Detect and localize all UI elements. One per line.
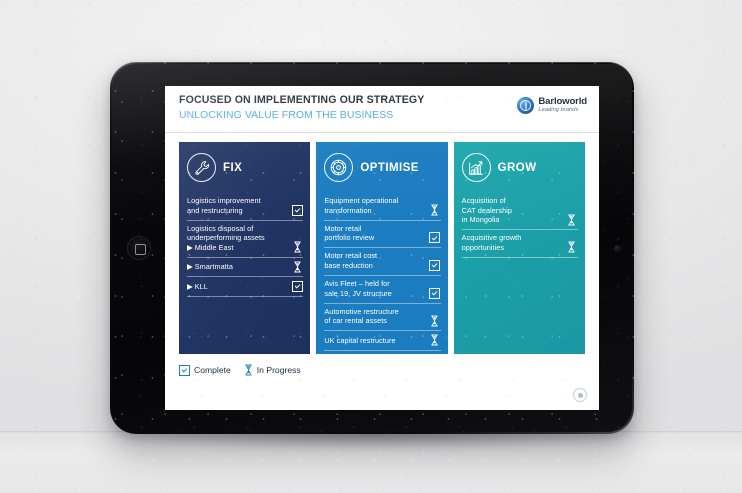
initiative-label: Automotive restructure of car rental ass… [324,307,399,327]
initiative-row[interactable]: Equipment operational transformation [324,193,440,221]
tablet-screen: FOCUSED ON IMPLEMENTING OUR STRATEGY UNL… [165,86,599,410]
hourglass-icon [429,334,441,346]
column-title: GROW [498,162,537,174]
column-header-fix: FIX [179,142,310,193]
page-title: FOCUSED ON IMPLEMENTING OUR STRATEGY [179,94,424,107]
initiative-label: Logistics disposal of underperforming as… [187,224,265,254]
initiative-label: Equipment operational transformation [324,196,398,216]
initiative-label: UK capital restructure [324,336,395,347]
initiative-row[interactable]: Motor retail portfolio review [324,221,440,249]
hourglass-icon [429,204,441,216]
legend-item: In Progress [244,364,301,376]
slide-header: FOCUSED ON IMPLEMENTING OUR STRATEGY UNL… [165,86,599,133]
initiative-label: Logistics improvement and restructuring [187,196,261,216]
legend-item: Complete [179,365,231,376]
home-button-square-icon [135,244,146,255]
hourglass-icon [291,241,303,253]
check-icon [429,260,441,272]
initiative-row[interactable]: Logistics improvement and restructuring [187,193,303,221]
front-camera-icon [615,246,620,251]
check-icon [429,232,441,244]
photo-scene: FOCUSED ON IMPLEMENTING OUR STRATEGY UNL… [0,0,742,493]
page-subtitle: UNLOCKING VALUE FROM THE BUSINESS [179,109,424,123]
initiative-label: Motor retail portfolio review [324,224,374,244]
barloworld-logo: Barloworld Leading brands [517,97,587,114]
column-title: FIX [223,162,242,174]
initiative-row[interactable]: Automotive restructure of car rental ass… [324,304,440,332]
legend-label: In Progress [257,365,301,375]
title-block: FOCUSED ON IMPLEMENTING OUR STRATEGY UNL… [179,94,424,123]
logo-name: Barloworld [538,97,587,107]
logo-tagline: Leading brands [538,108,587,114]
check-icon [429,287,441,299]
legend-label: Complete [194,365,231,375]
globe-icon [517,97,534,114]
initiative-row[interactable]: Acquisitive growth opportunities [462,230,578,258]
column-title: OPTIMISE [360,162,419,174]
check-icon [291,280,303,292]
initiative-row[interactable]: UK capital restructure [324,331,440,351]
column-rows: Logistics improvement and restructuringL… [179,193,310,297]
column-fix: FIXLogistics improvement and restructuri… [179,142,310,354]
home-button[interactable] [128,237,150,259]
hourglass-icon [244,364,253,376]
legend: CompleteIn Progress [179,364,301,376]
wrench-icon [187,153,216,182]
check-icon [179,365,190,376]
column-grow: GROWAcquisition of CAT dealership in Mon… [454,142,585,354]
check-icon [291,204,303,216]
hourglass-icon [429,315,441,327]
strategy-columns: FIXLogistics improvement and restructuri… [179,142,585,354]
initiative-row[interactable]: ▶ KLL [187,277,303,297]
initiative-row[interactable]: ▶ Smartmatta [187,258,303,278]
initiative-label: Acquisition of CAT dealership in Mongoli… [462,196,512,226]
column-header-grow: GROW [454,142,585,193]
initiative-row[interactable]: Logistics disposal of underperforming as… [187,221,303,258]
initiative-label: Motor retail cost base reduction [324,251,377,271]
watermark-circle-icon [573,388,587,402]
column-rows: Equipment operational transformationMoto… [316,193,447,351]
column-rows: Acquisition of CAT dealership in Mongoli… [454,193,585,258]
initiative-row[interactable]: Avis Fleet – held for sale 19, JV struct… [324,276,440,304]
column-optimise: OPTIMISEEquipment operational transforma… [316,142,447,354]
column-header-optimise: OPTIMISE [316,142,447,193]
hourglass-icon [566,241,578,253]
hourglass-icon [566,214,578,226]
growth-chart-icon [462,153,491,182]
hourglass-icon [291,261,303,273]
initiative-label: ▶ Smartmatta [187,262,233,273]
initiative-row[interactable]: Acquisition of CAT dealership in Mongoli… [462,193,578,230]
gear-icon [324,153,353,182]
presentation-slide: FOCUSED ON IMPLEMENTING OUR STRATEGY UNL… [165,86,599,410]
tablet-device: FOCUSED ON IMPLEMENTING OUR STRATEGY UNL… [110,62,634,434]
initiative-label: Acquisitive growth opportunities [462,233,522,253]
initiative-label: Avis Fleet – held for sale 19, JV struct… [324,279,392,299]
initiative-label: ▶ KLL [187,282,208,293]
logo-text: Barloworld Leading brands [538,97,587,113]
initiative-row[interactable]: Motor retail cost base reduction [324,248,440,276]
